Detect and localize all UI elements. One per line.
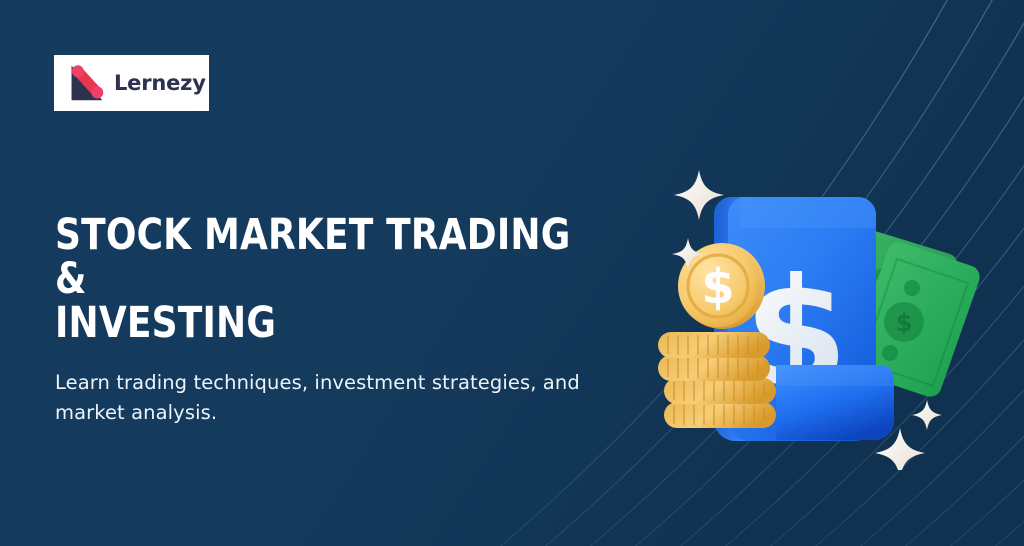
sparkle-small-right [912,400,942,430]
banknote-dollar-emblem: $ [884,302,924,342]
hero-copy: STOCK MARKET TRADING & INVESTING Learn t… [55,214,635,429]
promo-banner: Lernezy STOCK MARKET TRADING & INVESTING… [0,0,1024,546]
hero-subtitle: Learn trading techniques, investment str… [55,368,620,429]
gold-coin-stack [658,332,776,428]
finance-3d-illustration: $ $ [650,150,1000,470]
brand-logo[interactable]: Lernezy [54,55,209,111]
wallet-pocket [776,365,894,440]
brand-wordmark: Lernezy [114,73,206,94]
svg-text:$: $ [701,259,734,315]
illustration-canvas: $ $ [650,150,1000,470]
coin-layer [664,402,776,428]
coin-layer [658,332,770,358]
lernezy-l-mark [66,64,106,102]
coin-layer [658,355,770,381]
svg-text:$: $ [896,309,913,337]
coin-layer [664,378,776,404]
page-title: STOCK MARKET TRADING & INVESTING [55,214,594,346]
